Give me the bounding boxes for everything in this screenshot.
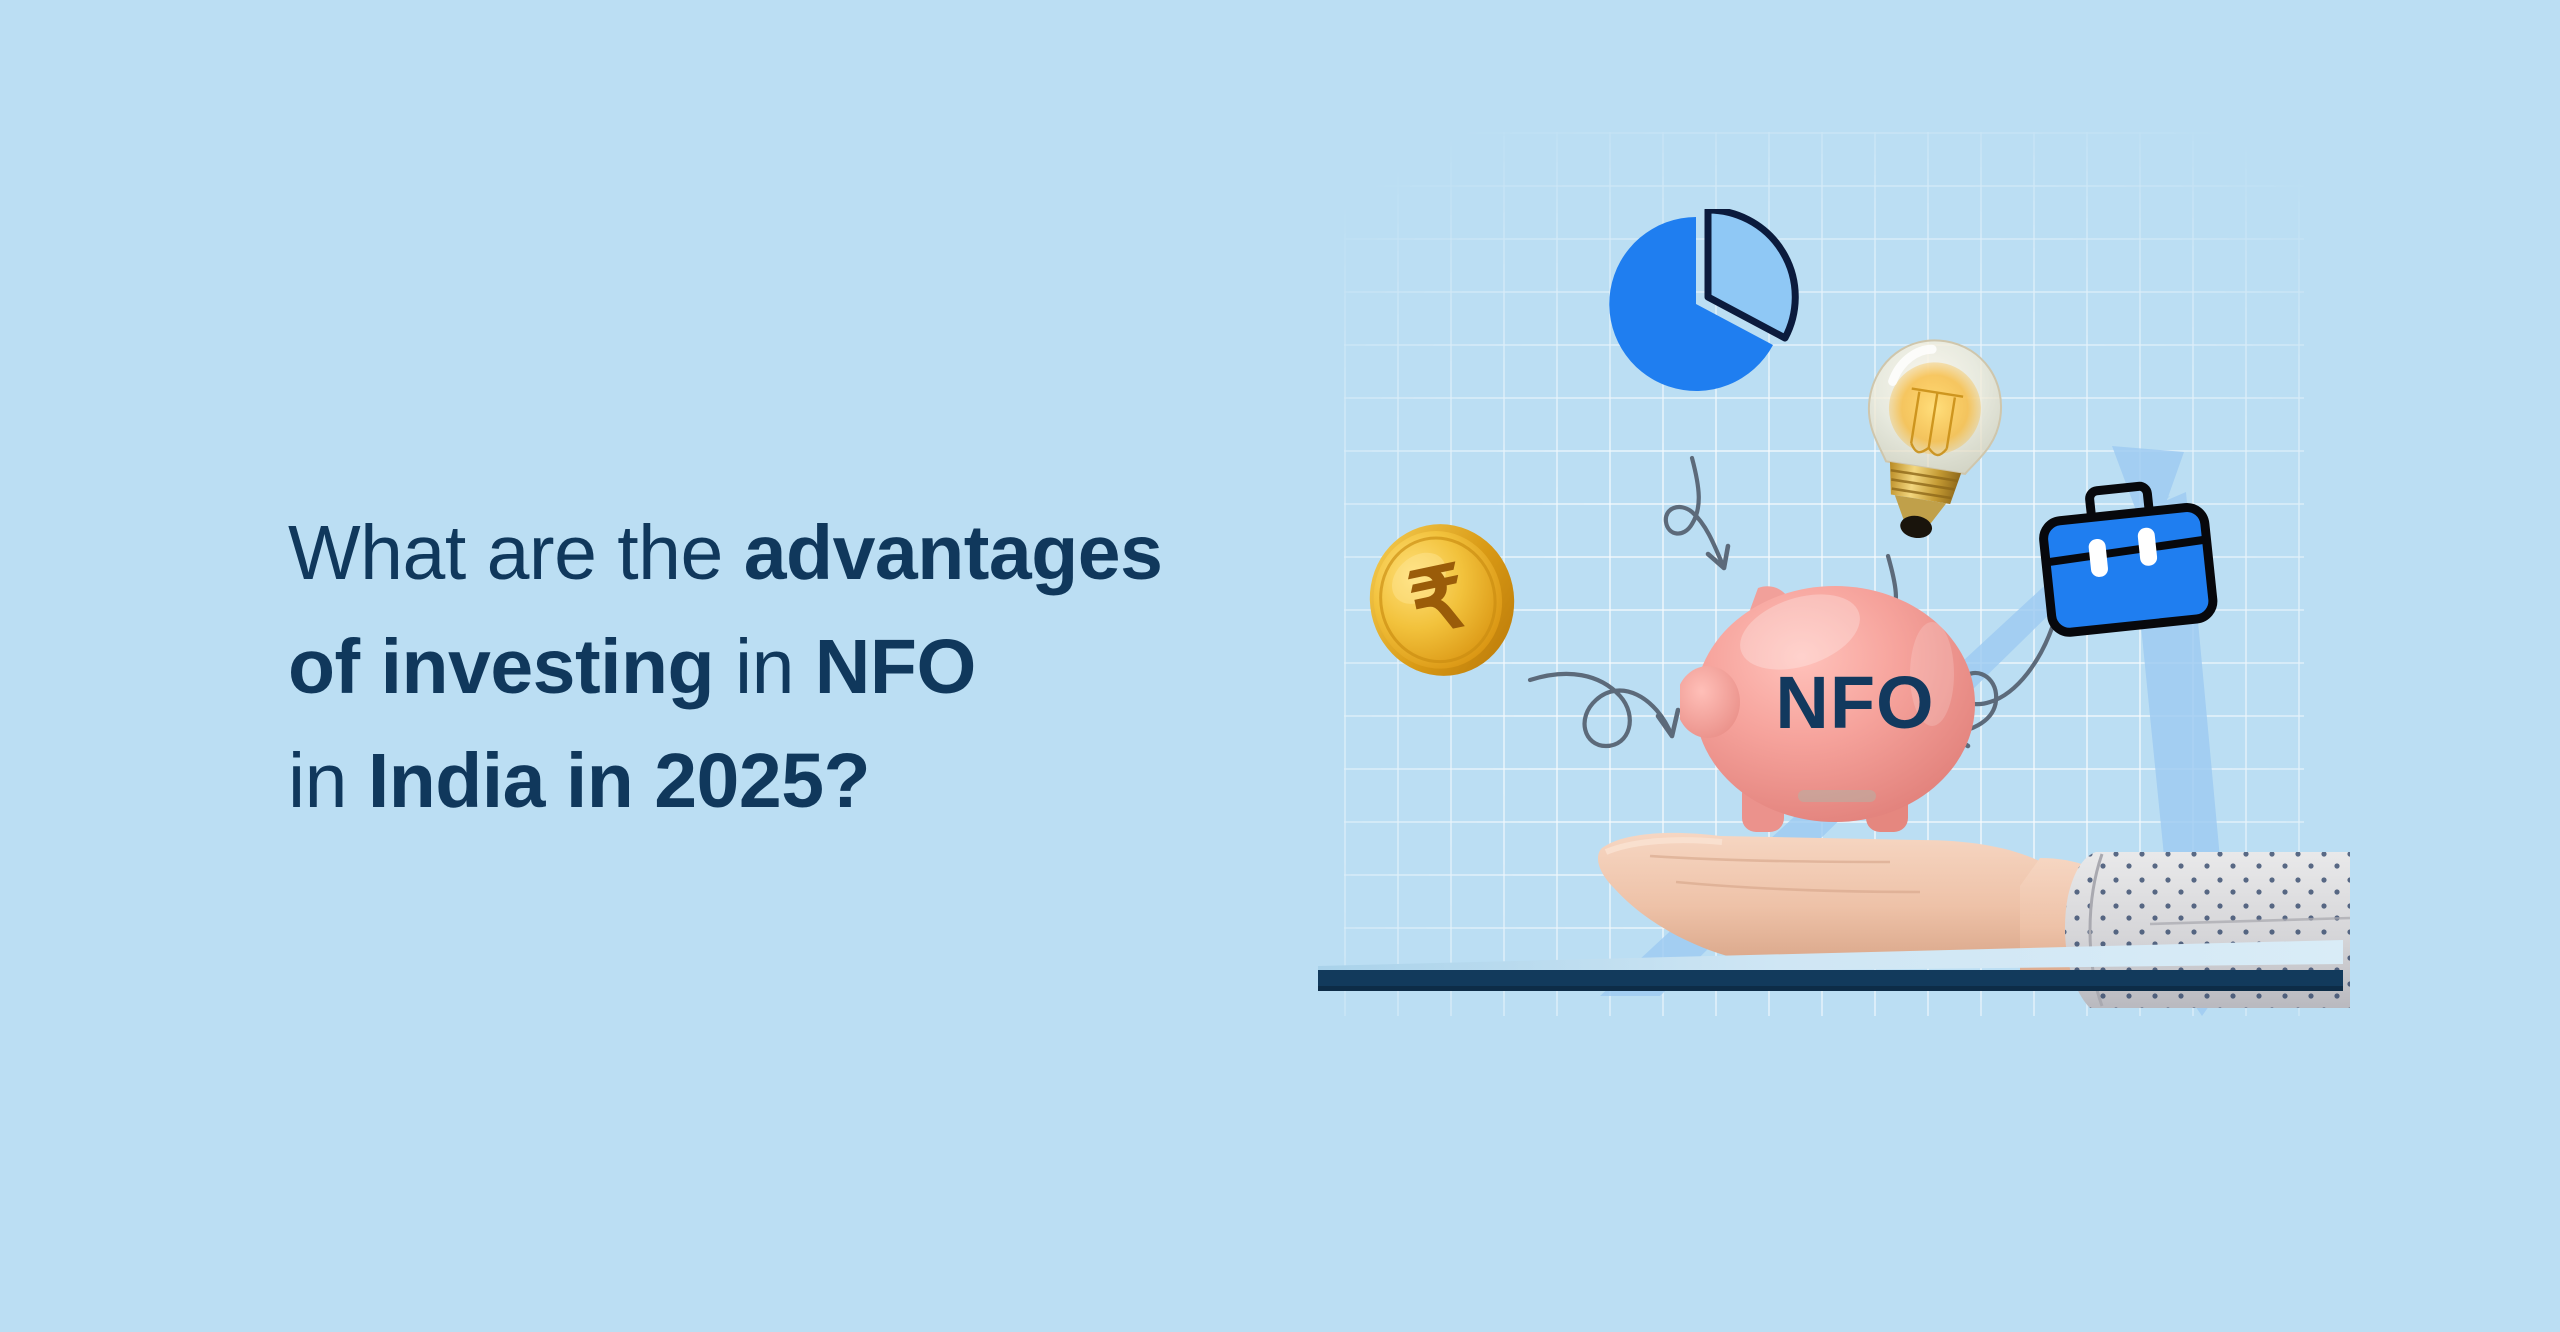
headline-line-1: What are the advantages (288, 496, 1368, 610)
headline-line-2-bold: of investing (288, 624, 714, 710)
headline-line-2: of investing in NFO (288, 610, 1368, 724)
headline-line-2-light: in (714, 624, 815, 710)
headline-line-1-bold: advantages (744, 510, 1163, 596)
headline-line-3: in India in 2025? (288, 724, 1368, 838)
headline-line-3-light: in (288, 738, 368, 824)
briefcase-icon (2026, 469, 2227, 647)
headline-line-3-bold: India in 2025? (368, 738, 870, 824)
pie-chart-icon (1600, 209, 1800, 399)
platform-bar (1308, 918, 2343, 1018)
nfo-banner: What are the advantages of investing in … (0, 0, 2560, 1332)
headline-line-2-bold2: NFO (815, 624, 976, 710)
page-title: What are the advantages of investing in … (288, 496, 1368, 838)
hero-illustration: ₹ (1300, 96, 2344, 1016)
headline-line-1-light: What are the (288, 510, 744, 596)
rupee-coin-icon: ₹ (1347, 505, 1537, 695)
